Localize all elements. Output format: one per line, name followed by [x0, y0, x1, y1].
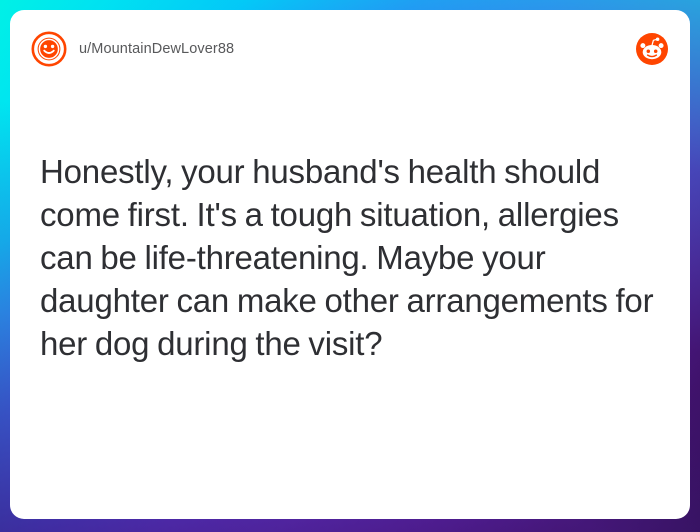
reddit-post-card: u/MountainDewLover88 Honestly, your husb…	[10, 10, 690, 519]
reddit-snoo-icon[interactable]	[636, 33, 668, 65]
screenshot-canvas: u/MountainDewLover88 Honestly, your husb…	[0, 0, 700, 532]
post-username[interactable]: u/MountainDewLover88	[79, 41, 234, 57]
smiley-face-avatar-icon[interactable]	[31, 31, 67, 67]
post-header: u/MountainDewLover88	[10, 10, 690, 88]
post-body-text: Honestly, your husband's health should c…	[40, 150, 665, 365]
